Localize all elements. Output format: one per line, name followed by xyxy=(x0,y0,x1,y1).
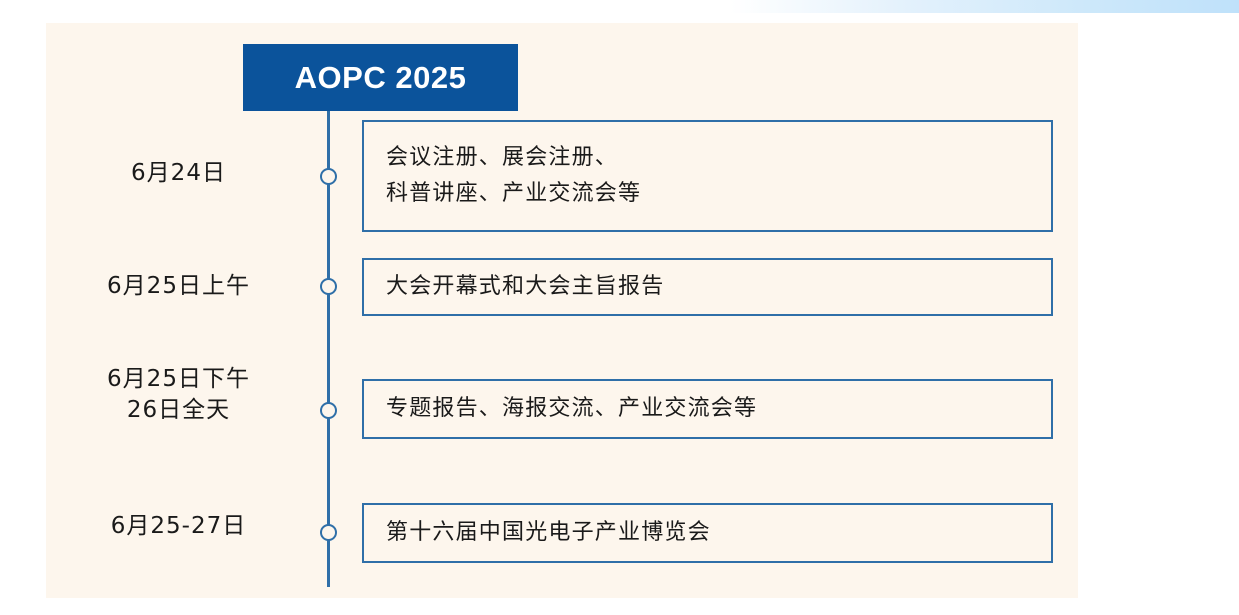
event-box-3: 专题报告、海报交流、产业交流会等 xyxy=(362,379,1053,439)
date-label-column: 6月24日 6月25日上午 6月25日下午 26日全天 6月25-27日 xyxy=(46,23,311,598)
timeline-node-marker-1 xyxy=(320,168,337,185)
event-box-4: 第十六届中国光电子产业博览会 xyxy=(362,503,1053,563)
date-label-row-3: 6月25日下午 26日全天 xyxy=(46,364,311,427)
event-box-1: 会议注册、展会注册、 科普讲座、产业交流会等 xyxy=(362,120,1053,232)
event-box-2: 大会开幕式和大会主旨报告 xyxy=(362,258,1053,316)
event-text-line: 大会开幕式和大会主旨报告 xyxy=(386,269,1029,305)
date-label-row-2: 6月25日上午 xyxy=(46,271,311,302)
event-text-line: 科普讲座、产业交流会等 xyxy=(386,176,1029,212)
date-label-line: 6月25日下午 xyxy=(46,364,311,395)
timeline-node-marker-2 xyxy=(320,278,337,295)
timeline-node-marker-4 xyxy=(320,524,337,541)
date-label-line: 6月24日 xyxy=(46,158,311,189)
date-label-row-1: 6月24日 xyxy=(46,158,311,189)
conference-title-label: AOPC 2025 xyxy=(295,60,467,96)
date-label-line: 6月25-27日 xyxy=(46,511,311,542)
date-label-row-4: 6月25-27日 xyxy=(46,511,311,542)
top-accent-bar xyxy=(730,0,1239,13)
date-label-line: 26日全天 xyxy=(46,395,311,426)
event-text-line: 专题报告、海报交流、产业交流会等 xyxy=(386,391,1029,427)
event-text-line: 会议注册、展会注册、 xyxy=(386,140,1029,176)
event-text-line: 第十六届中国光电子产业博览会 xyxy=(386,515,1029,551)
timeline-node-marker-3 xyxy=(320,402,337,419)
date-label-line: 6月25日上午 xyxy=(46,271,311,302)
